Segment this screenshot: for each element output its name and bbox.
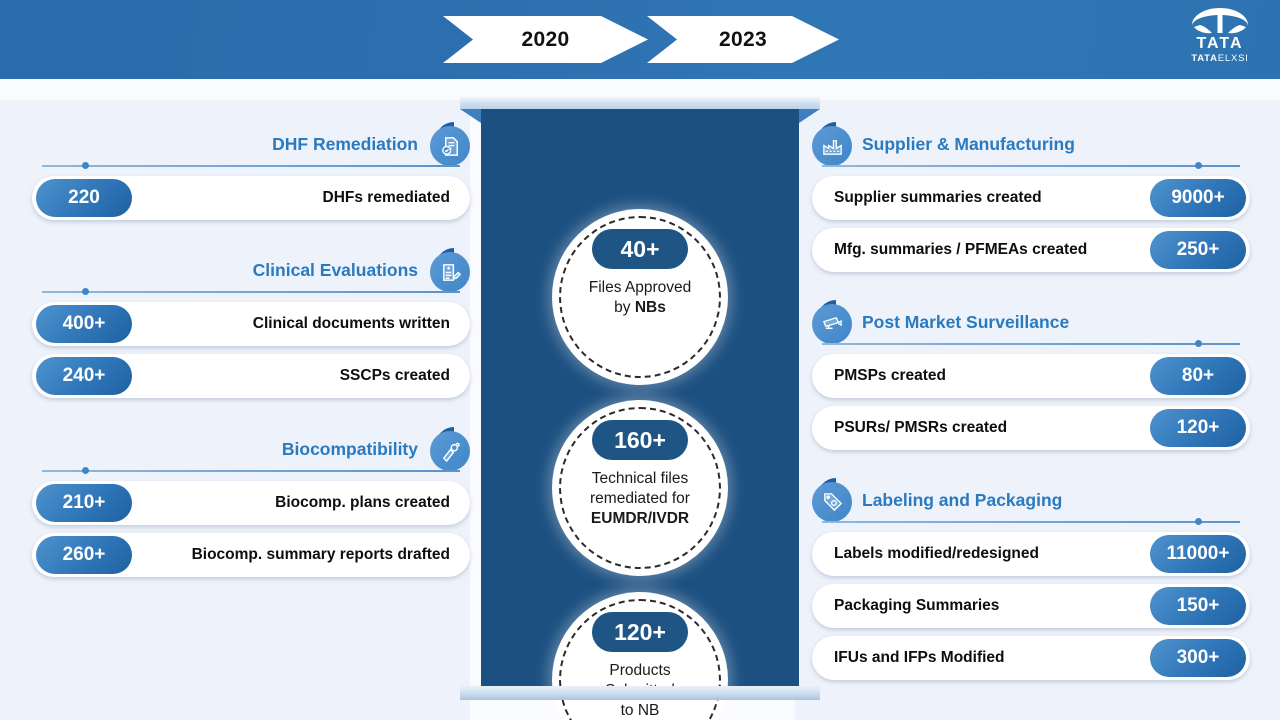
center-column: 40+ Files Approved by NBs 160+ Technical… [481,102,799,700]
kpi-line1: Technical files [592,470,689,487]
metric-label: SSCPs created [340,367,450,385]
price-tag-icon [812,480,852,520]
logo-subtitle-bold: TATA [1191,53,1217,64]
column-cap-bottom [460,686,820,700]
metric-row[interactable]: Labels modified/redesigned 11000+ [812,532,1250,576]
metric-value: 120+ [1150,409,1246,447]
section-header: Labeling and Packaging [812,476,1250,524]
section-header: Post Market Surveillance [812,298,1250,346]
logo-wordmark: TATA [1178,35,1262,52]
metric-value: 250+ [1150,231,1246,269]
metric-label: IFUs and IFPs Modified [834,649,1005,667]
header-bar: 2020 2023 TATA TATAELXSI [0,0,1280,79]
metric-row[interactable]: Supplier summaries created 9000+ [812,176,1250,220]
metric-rows: 400+ Clinical documents written 240+ SSC… [32,302,470,398]
metric-row[interactable]: 220 DHFs remediated [32,176,470,220]
metric-row[interactable]: 260+ Biocomp. summary reports drafted [32,533,470,577]
section-title: Post Market Surveillance [862,312,1069,333]
section-header: DHF Remediation [32,120,470,168]
tata-logo-mark [1188,6,1252,34]
section-title: Clinical Evaluations [253,260,418,281]
section-rule [32,469,470,473]
kpi-line1: Files Approved [589,279,692,296]
metric-row[interactable]: PMSPs created 80+ [812,354,1250,398]
kpi-line3-bold: EUMDR/IVDR [591,510,689,527]
kpi-label-technical-files: Technical files remediated for EUMDR/IVD… [574,469,706,529]
metric-label: Labels modified/redesigned [834,545,1039,563]
metric-value: 220 [36,179,132,217]
section-dhf-remediation: DHF Remediation 220 DHFs remediated [32,120,470,228]
section-rule [32,164,470,168]
timeline-arrows: 2020 2023 [443,16,839,63]
section-rule [812,164,1250,168]
metric-label: Biocomp. summary reports drafted [192,546,450,564]
document-check-icon [430,124,470,164]
metric-label: DHFs remediated [323,189,450,207]
timeline-year-2020: 2020 [522,28,570,52]
metric-row[interactable]: Packaging Summaries 150+ [812,584,1250,628]
timeline-arrow-2020: 2020 [443,16,648,63]
section-header: Biocompatibility [32,425,470,473]
section-header: Supplier & Manufacturing [812,120,1250,168]
metric-rows: 210+ Biocomp. plans created 260+ Biocomp… [32,481,470,577]
kpi-line3: to NB [621,702,660,719]
metric-label: PSURs/ PMSRs created [834,419,1007,437]
metric-value: 80+ [1150,357,1246,395]
logo-subtitle: TATAELXSI [1178,53,1262,64]
metric-label: Biocomp. plans created [275,494,450,512]
metric-value: 150+ [1150,587,1246,625]
metric-label: Clinical documents written [253,315,450,333]
metric-rows: PMSPs created 80+ PSURs/ PMSRs created 1… [812,354,1250,450]
section-title: Labeling and Packaging [862,490,1062,511]
section-title: Supplier & Manufacturing [862,134,1075,155]
factory-icon [812,124,852,164]
kpi-label-files-approved: Files Approved by NBs [573,278,708,318]
timeline-year-2023: 2023 [719,28,767,52]
column-cap-top [460,95,820,109]
metric-value: 9000+ [1150,179,1246,217]
metric-row[interactable]: Mfg. summaries / PFMEAs created 250+ [812,228,1250,272]
logo-subtitle-light: ELXSI [1218,53,1249,64]
metric-row[interactable]: IFUs and IFPs Modified 300+ [812,636,1250,680]
metric-rows: Supplier summaries created 9000+ Mfg. su… [812,176,1250,272]
metric-label: PMSPs created [834,367,946,385]
surveillance-camera-icon [812,302,852,342]
metric-row[interactable]: PSURs/ PMSRs created 120+ [812,406,1250,450]
clipboard-pen-icon [430,250,470,290]
timeline-arrow-2023: 2023 [647,16,839,63]
kpi-line2: by [614,299,635,316]
metric-label: Mfg. summaries / PFMEAs created [834,241,1087,259]
metric-row[interactable]: 400+ Clinical documents written [32,302,470,346]
kpi-value-products-submitted: 120+ [592,612,688,652]
kpi-circle-products-submitted: 120+ Products Submitted to NB [552,592,728,720]
kpi-value-technical-files: 160+ [592,420,688,460]
metric-label: Packaging Summaries [834,597,999,615]
metric-label: Supplier summaries created [834,189,1042,207]
section-rule [812,520,1250,524]
infographic-slide: 2020 2023 TATA TATAELXSI 40+ [0,0,1280,720]
metric-value: 300+ [1150,639,1246,677]
section-header: Clinical Evaluations [32,246,470,294]
kpi-line2-bold: NBs [635,299,666,316]
section-supplier-manufacturing: Supplier & Manufacturing Supplier summar… [812,120,1250,280]
section-post-market-surveillance: Post Market Surveillance PMSPs created 8… [812,298,1250,458]
metric-value: 11000+ [1150,535,1246,573]
metric-value: 210+ [36,484,132,522]
kpi-circle-technical-files: 160+ Technical files remediated for EUMD… [552,400,728,576]
kpi-value-files-approved: 40+ [592,229,688,269]
section-biocompatibility: Biocompatibility 210+ Biocomp. plans cre… [32,425,470,585]
tata-elxsi-logo: TATA TATAELXSI [1178,6,1262,72]
metric-value: 400+ [36,305,132,343]
section-rule [32,290,470,294]
kpi-line1: Products [609,662,670,679]
metric-value: 240+ [36,357,132,395]
section-rule [812,342,1250,346]
kpi-circle-files-approved: 40+ Files Approved by NBs [552,209,728,385]
section-title: DHF Remediation [272,134,418,155]
section-title: Biocompatibility [282,439,418,460]
metric-rows: 220 DHFs remediated [32,176,470,220]
metric-value: 260+ [36,536,132,574]
section-labeling-packaging: Labeling and Packaging Labels modified/r… [812,476,1250,688]
section-clinical-evaluations: Clinical Evaluations 400+ Clinical docum… [32,246,470,406]
metric-rows: Labels modified/redesigned 11000+ Packag… [812,532,1250,680]
kpi-line2: remediated for [590,490,690,507]
metric-row[interactable]: 240+ SSCPs created [32,354,470,398]
metric-row[interactable]: 210+ Biocomp. plans created [32,481,470,525]
lab-pipette-icon [430,429,470,469]
